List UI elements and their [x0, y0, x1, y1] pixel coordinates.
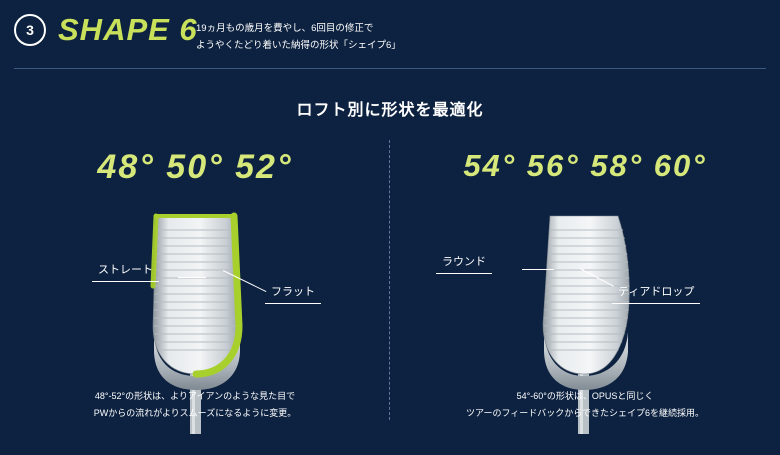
header: 3 SHAPE 6 19ヵ月もの歳月を費やし、6回目の修正で ようやくたどり着い…	[0, 0, 780, 70]
callout-round-leader	[522, 269, 554, 270]
section-number-badge: 3	[14, 14, 46, 46]
callout-straight-leader	[178, 277, 206, 278]
caption-high-loft: 54°-60°の形状は、OPUSと同じく ツアーのフィードバックからできたシェイ…	[390, 388, 780, 422]
section-title: ロフト別に形状を最適化	[0, 96, 780, 120]
callout-flat: フラット	[265, 280, 321, 304]
slide-root: 3 SHAPE 6 19ヵ月もの歳月を費やし、6回目の修正で ようやくたどり着い…	[0, 0, 780, 455]
caption-low-loft: 48°-52°の形状は、よりアイアンのような見た目で PWからの流れがよりスムー…	[0, 388, 390, 422]
page-title: SHAPE 6	[58, 12, 198, 48]
loft-list-high: 54° 56° 58° 60°	[390, 148, 780, 184]
header-description: 19ヵ月もの歳月を費やし、6回目の修正で ようやくたどり着いた納得の形状「シェイ…	[196, 20, 401, 54]
callout-round: ラウンド	[436, 250, 492, 274]
callout-straight: ストレート	[92, 258, 159, 282]
panel-high-loft: 54° 56° 58° 60°	[390, 140, 780, 430]
panel-low-loft: 48° 50° 52°	[0, 140, 390, 430]
header-divider	[14, 68, 766, 69]
callout-teardrop: ティアドロップ	[612, 280, 700, 304]
loft-list-low: 48° 50° 52°	[0, 148, 390, 187]
